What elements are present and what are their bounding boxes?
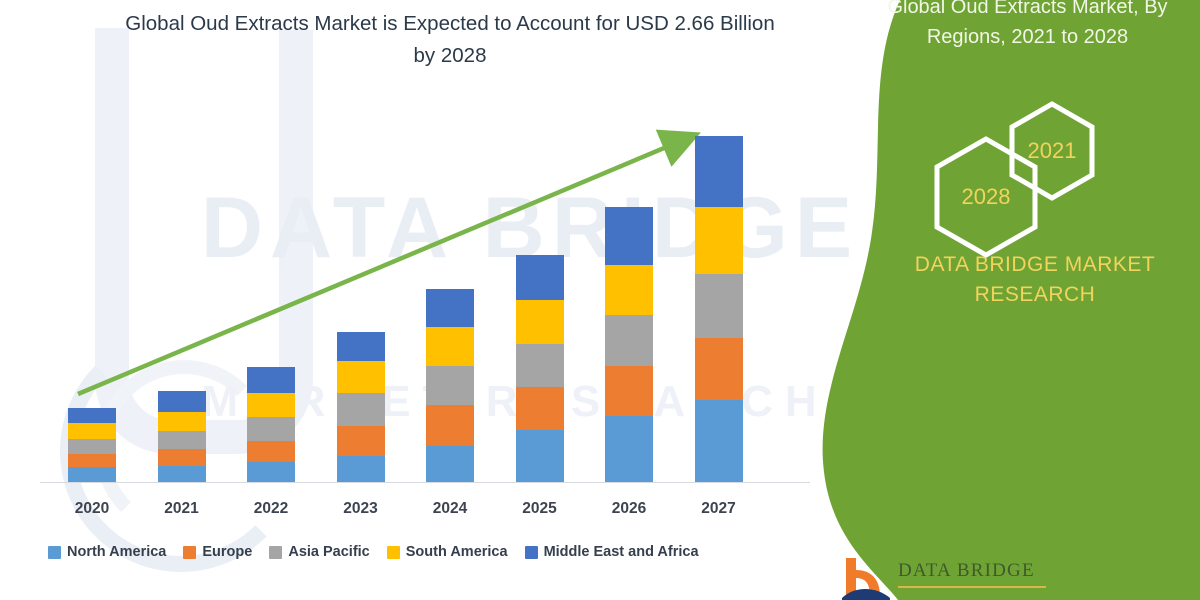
legend-item[interactable]: South America [387, 544, 508, 560]
chart-legend: North AmericaEuropeAsia PacificSouth Ame… [48, 540, 808, 564]
legend-swatch-icon [48, 546, 61, 559]
panel-title: Global Oud Extracts Market, By Regions, … [855, 0, 1200, 52]
bar-segment[interactable] [68, 408, 116, 424]
bar-segment[interactable] [426, 405, 474, 446]
x-axis-line [40, 482, 810, 483]
x-axis-label-2020: 2020 [52, 500, 132, 518]
dbmr-logo: DATA BRIDGE [840, 556, 1180, 600]
bar-2022[interactable] [247, 367, 295, 482]
bar-2020[interactable] [68, 408, 116, 482]
bar-segment[interactable] [337, 393, 385, 426]
bar-segment[interactable] [695, 338, 743, 401]
bar-segment[interactable] [516, 255, 564, 300]
bar-segment[interactable] [695, 400, 743, 482]
bar-segment[interactable] [337, 361, 385, 394]
bar-segment[interactable] [247, 441, 295, 462]
bar-2025[interactable] [516, 255, 564, 482]
bar-segment[interactable] [605, 207, 653, 266]
chart-canvas: DATA BRIDGE MARKET RESEARCH Global Oud E… [0, 0, 1200, 600]
bar-segment[interactable] [247, 393, 295, 418]
bar-segment[interactable] [516, 430, 564, 482]
legend-swatch-icon [183, 546, 196, 559]
legend-swatch-icon [269, 546, 282, 559]
bar-segment[interactable] [337, 456, 385, 482]
bar-segment[interactable] [695, 207, 743, 273]
x-axis-label-2027: 2027 [679, 500, 759, 518]
bar-segment[interactable] [337, 426, 385, 456]
dbmr-logo-text: DATA BRIDGE [898, 560, 1035, 582]
bar-segment[interactable] [605, 366, 653, 416]
hexagon-2028-label: 2028 [930, 135, 1042, 259]
bar-segment[interactable] [426, 366, 474, 405]
bar-segment[interactable] [68, 454, 116, 467]
bar-segment[interactable] [68, 423, 116, 439]
x-axis-label-2022: 2022 [231, 500, 311, 518]
bar-segment[interactable] [247, 367, 295, 393]
legend-label: Middle East and Africa [544, 544, 699, 560]
bridge-logo-icon [840, 556, 896, 600]
bar-segment[interactable] [695, 136, 743, 207]
bar-segment[interactable] [695, 274, 743, 338]
legend-label: South America [406, 544, 508, 560]
bar-segment[interactable] [247, 417, 295, 441]
bar-segment[interactable] [516, 300, 564, 343]
bar-segment[interactable] [158, 449, 206, 466]
legend-item[interactable]: Middle East and Africa [525, 544, 699, 560]
bar-segment[interactable] [158, 391, 206, 412]
bar-2027[interactable] [695, 136, 743, 482]
legend-label: North America [67, 544, 166, 560]
bar-segment[interactable] [605, 416, 653, 482]
x-axis-label-2026: 2026 [589, 500, 669, 518]
legend-item[interactable]: Europe [183, 544, 252, 560]
bar-segment[interactable] [68, 439, 116, 454]
dbmr-logo-rule [898, 586, 1046, 588]
bar-segment[interactable] [605, 315, 653, 366]
bar-segment[interactable] [68, 467, 116, 482]
legend-swatch-icon [387, 546, 400, 559]
legend-item[interactable]: North America [48, 544, 166, 560]
bar-segment[interactable] [426, 327, 474, 366]
bar-2023[interactable] [337, 332, 385, 482]
bar-segment[interactable] [158, 466, 206, 482]
plot-area: 20202021202220232024202520262027 [0, 0, 820, 600]
x-axis-label-2023: 2023 [321, 500, 401, 518]
bar-2026[interactable] [605, 207, 653, 482]
bar-segment[interactable] [426, 289, 474, 328]
x-axis-label-2024: 2024 [410, 500, 490, 518]
bar-segment[interactable] [516, 387, 564, 430]
bar-segment[interactable] [605, 265, 653, 314]
panel-brand: DATA BRIDGE MARKET RESEARCH [890, 250, 1180, 310]
legend-label: Europe [202, 544, 252, 560]
bar-segment[interactable] [247, 462, 295, 482]
bar-segment[interactable] [516, 344, 564, 387]
bar-segment[interactable] [337, 332, 385, 361]
legend-label: Asia Pacific [288, 544, 369, 560]
legend-swatch-icon [525, 546, 538, 559]
legend-item[interactable]: Asia Pacific [269, 544, 369, 560]
bar-segment[interactable] [158, 431, 206, 449]
bar-segment[interactable] [426, 446, 474, 482]
x-axis-label-2025: 2025 [500, 500, 580, 518]
bar-segment[interactable] [158, 412, 206, 431]
hexagon-2028-label-wrap: 2028 [930, 135, 1042, 259]
bar-2024[interactable] [426, 289, 474, 482]
x-axis-label-2021: 2021 [142, 500, 222, 518]
bar-2021[interactable] [158, 391, 206, 482]
